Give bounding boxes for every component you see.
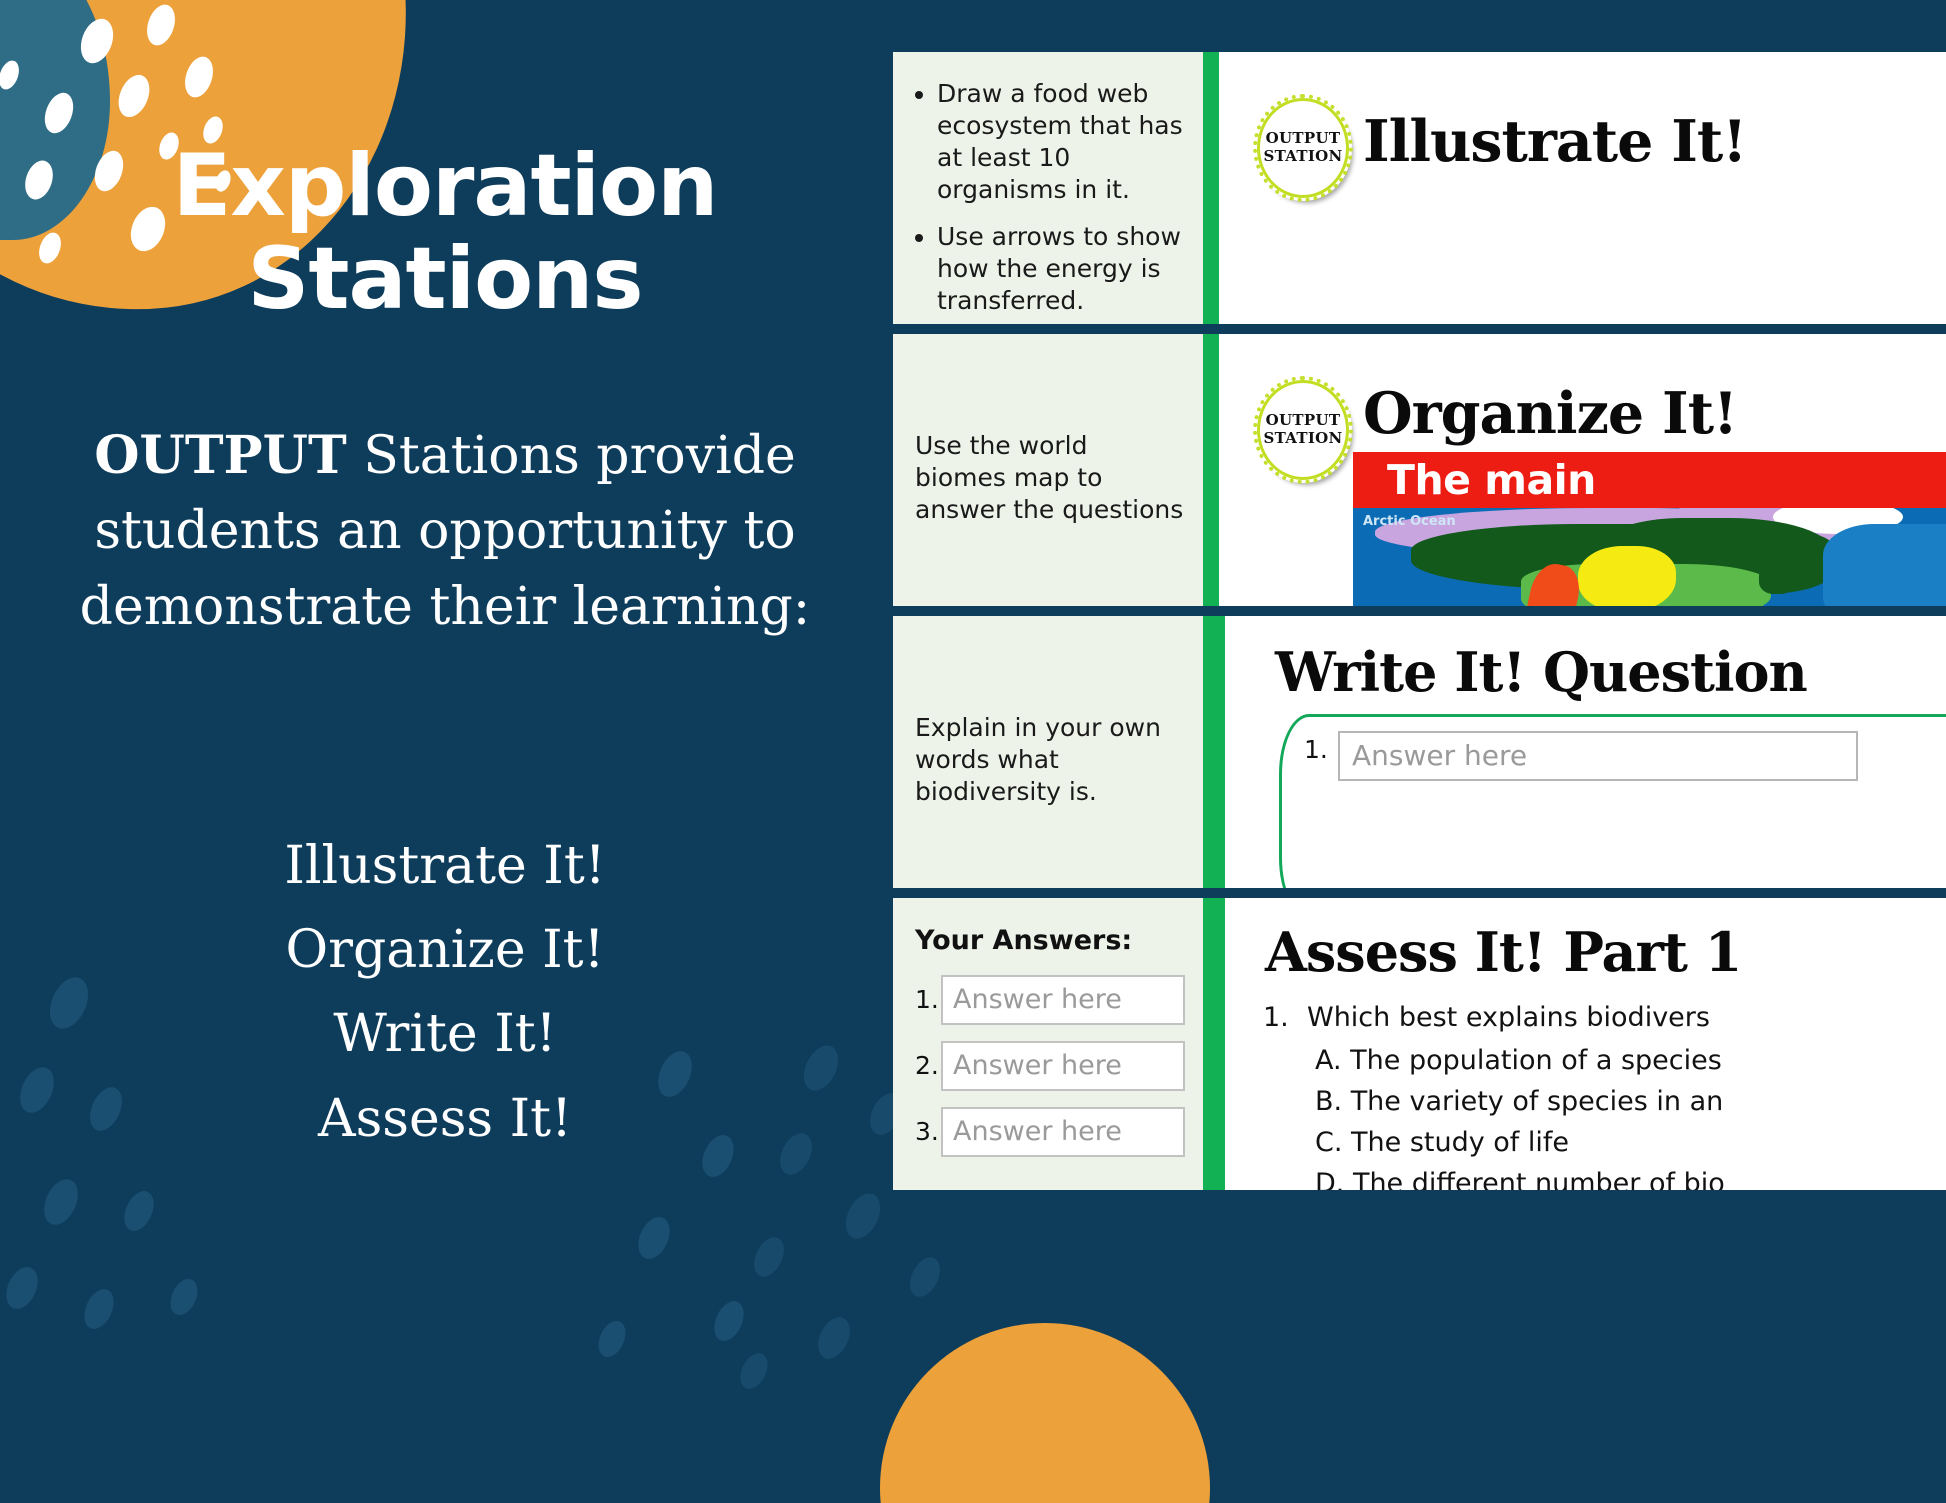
preview-slide-organize-it[interactable]: Use the world biomes map to answer the q… (893, 334, 1946, 606)
answer-input[interactable]: Answer here (941, 1041, 1185, 1091)
question-stem: 1.Which best explains biodivers (1263, 1004, 1946, 1031)
answer-region-outline: 1. Answer here (1279, 714, 1946, 888)
slide-inner-canvas: OUTPUT STATION Illustrate It! (1233, 62, 1946, 324)
slide-canvas: Exploration Stations OUTPUT Stations pro… (0, 0, 1946, 1503)
station-name-item: Organize It! (60, 908, 830, 992)
map-label-arctic-ocean: Arctic Ocean (1363, 514, 1456, 529)
station-name-list: Illustrate It! Organize It! Write It! As… (60, 824, 830, 1161)
question-option-a[interactable]: A. The population of a species (1315, 1047, 1946, 1074)
seal-line-1: OUTPUT (1266, 130, 1341, 148)
answer-number: 1. (1304, 735, 1328, 764)
note-text: Explain in your own words what biodivers… (915, 712, 1185, 808)
answer-row-number: 2. (915, 1050, 941, 1082)
slide-heading: Illustrate It! (1363, 108, 1746, 175)
slide-heading: Write It! Question (1275, 640, 1807, 704)
question-number: 1. (1263, 1004, 1307, 1031)
left-text-column: Exploration Stations OUTPUT Stations pro… (0, 0, 890, 1503)
slide-heading: Organize It! (1363, 380, 1737, 447)
seal-line-2: STATION (1263, 430, 1342, 448)
station-name-item: Write It! (60, 992, 830, 1076)
question-option-d[interactable]: D. The different number of bio (1315, 1170, 1946, 1190)
question-option-b[interactable]: B. The variety of species in an (1315, 1088, 1946, 1115)
slide-inner-canvas: Assess It! Part 1 1.Which best explains … (1239, 908, 1946, 1190)
note-text: Use the world biomes map to answer the q… (915, 430, 1185, 526)
station-name-item: Assess It! (60, 1077, 830, 1161)
slide-notes-panel: Your Answers: 1. Answer here 2. Answer h… (893, 898, 1203, 1190)
slide-content-area: OUTPUT STATION Illustrate It! (1203, 52, 1946, 324)
map-canvas: Arctic Ocean At Oc (1353, 508, 1946, 606)
slide-notes-panel: Draw a food web ecosystem that has at le… (893, 52, 1203, 324)
map-banner-text: The main (1353, 452, 1946, 508)
world-biomes-map-image: The main (1353, 452, 1946, 606)
answer-row: 1. Answer here (915, 975, 1185, 1025)
map-shelf-region (1823, 524, 1946, 606)
seal-line-2: STATION (1263, 148, 1342, 166)
page-title: Exploration Stations (0, 140, 890, 326)
slide-notes-panel: Use the world biomes map to answer the q… (893, 334, 1203, 606)
preview-slide-write-it[interactable]: Explain in your own words what biodivers… (893, 616, 1946, 888)
note-bullet: Draw a food web ecosystem that has at le… (937, 78, 1185, 206)
station-name-item: Illustrate It! (60, 824, 830, 908)
your-answers-heading: Your Answers: (915, 924, 1185, 959)
seal-line-1: OUTPUT (1266, 412, 1341, 430)
slide-content-area: Assess It! Part 1 1.Which best explains … (1203, 898, 1946, 1190)
page-title-line-2: Stations (0, 233, 890, 326)
slide-preview-strip: Draw a food web ecosystem that has at le… (893, 0, 1946, 1503)
answer-input[interactable]: Answer here (941, 975, 1185, 1025)
output-station-seal-icon: OUTPUT STATION (1257, 98, 1349, 198)
answer-input[interactable]: Answer here (1338, 731, 1858, 781)
answer-row: 2. Answer here (915, 1041, 1185, 1091)
slide-inner-canvas: OUTPUT STATION Organize It! The main (1233, 344, 1946, 606)
slide-content-area: Write It! Question 1. Answer here (1203, 616, 1946, 888)
slide-content-area: OUTPUT STATION Organize It! The main (1203, 334, 1946, 606)
note-bullet: Use arrows to show how the energy is tra… (937, 221, 1185, 317)
slide-heading: Assess It! Part 1 (1265, 920, 1741, 984)
answer-row: 3. Answer here (915, 1107, 1185, 1157)
slide-notes-panel: Explain in your own words what biodivers… (893, 616, 1203, 888)
quiz-question-block: 1.Which best explains biodivers A. The p… (1263, 1004, 1946, 1190)
page-title-line-1: Exploration (0, 140, 890, 233)
map-grassland-region (1578, 546, 1676, 606)
answer-input[interactable]: Answer here (941, 1107, 1185, 1157)
question-option-c[interactable]: C. The study of life (1315, 1129, 1946, 1156)
output-station-seal-icon: OUTPUT STATION (1257, 380, 1349, 480)
slide-inner-canvas: Write It! Question 1. Answer here (1239, 626, 1946, 888)
intro-bold-word: OUTPUT (94, 425, 346, 486)
question-text: Which best explains biodivers (1307, 1002, 1710, 1033)
preview-slide-illustrate-it[interactable]: Draw a food web ecosystem that has at le… (893, 52, 1946, 324)
intro-paragraph: OUTPUT Stations provide students an oppo… (60, 418, 830, 645)
preview-slide-assess-it[interactable]: Your Answers: 1. Answer here 2. Answer h… (893, 898, 1946, 1190)
answer-row-number: 1. (915, 984, 941, 1016)
answer-row-number: 3. (915, 1116, 941, 1148)
map-forest-patch (1759, 564, 1795, 594)
